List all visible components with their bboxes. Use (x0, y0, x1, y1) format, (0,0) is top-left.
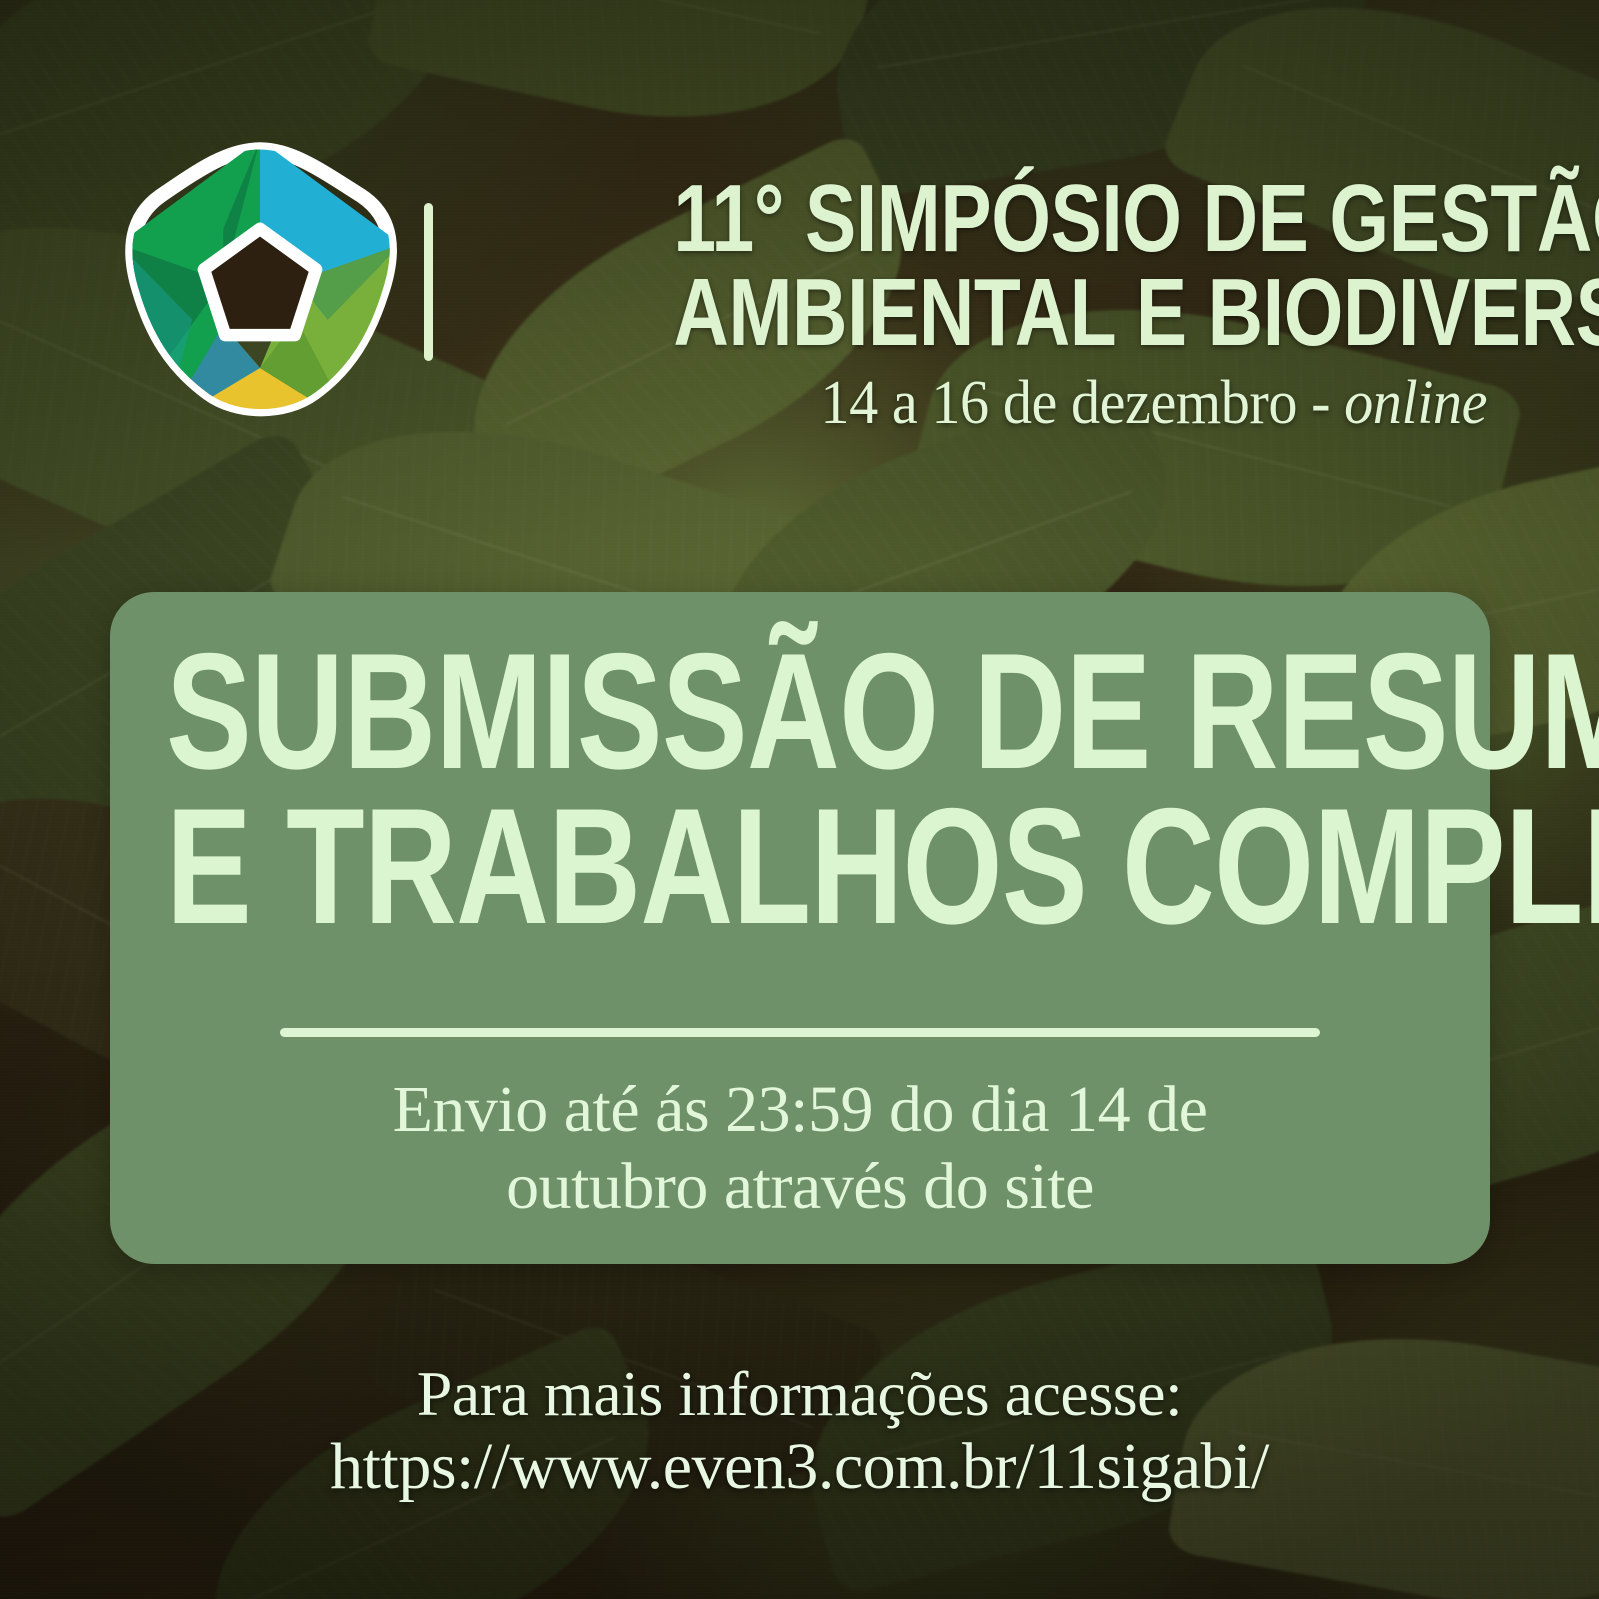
card-headline-line-1: SUBMISSÃO DE RESUMOS (166, 634, 1155, 789)
announcement-card: SUBMISSÃO DE RESUMOS E TRABALHOS COMPLET… (110, 592, 1490, 1264)
event-title-line-1: 11° SIMPÓSIO DE GESTÃO (673, 172, 1487, 266)
deadline-note-line-2: outubro através do site (200, 1149, 1400, 1226)
card-headline: SUBMISSÃO DE RESUMOS E TRABALHOS COMPLET… (166, 634, 1434, 944)
event-title-line-2: AMBIENTAL E BIODIVERSIDADE (673, 266, 1487, 360)
event-date-text: 14 a 16 de dezembro - (820, 369, 1344, 437)
card-headline-line-2: E TRABALHOS COMPLETOS (166, 789, 1155, 944)
poster-canvas: 11° SIMPÓSIO DE GESTÃO AMBIENTAL E BIODI… (0, 0, 1599, 1599)
header-vertical-rule (424, 203, 433, 361)
poster-footer: Para mais informações acesse: https://ww… (0, 1358, 1599, 1504)
poster-header: 11° SIMPÓSIO DE GESTÃO AMBIENTAL E BIODI… (0, 0, 1599, 470)
deadline-note: Envio até ás 23:59 do dia 14 de outubro … (200, 1072, 1400, 1225)
event-date-line: 14 a 16 de dezembro - online (531, 372, 1487, 434)
deadline-note-line-1: Envio até ás 23:59 do dia 14 de (200, 1072, 1400, 1149)
sigabi-pentagon-logo-icon (112, 136, 408, 426)
event-mode-text: online (1344, 369, 1487, 437)
event-title-block: 11° SIMPÓSIO DE GESTÃO AMBIENTAL E BIODI… (470, 172, 1487, 434)
card-divider (280, 1028, 1320, 1037)
event-website-url[interactable]: https://www.even3.com.br/11sigabi/ (0, 1430, 1599, 1504)
more-info-label: Para mais informações acesse: (0, 1358, 1599, 1430)
